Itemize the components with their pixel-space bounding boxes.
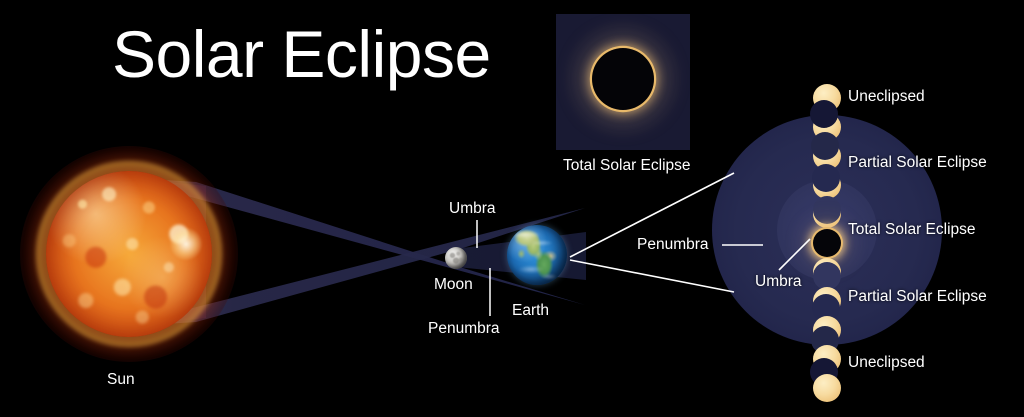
- umbra-label-right: Umbra: [755, 273, 802, 291]
- sun-label: Sun: [107, 371, 135, 389]
- earth-clouds: [507, 225, 567, 285]
- phase-disk-9: [813, 316, 841, 344]
- diagram-canvas: Solar Eclipse: [0, 0, 1024, 417]
- phase-label-uneclipsed-top: Uneclipsed: [848, 88, 925, 106]
- moon-label: Moon: [434, 276, 473, 294]
- phase-label-partial-top: Partial Solar Eclipse: [848, 154, 987, 172]
- umbra-label-left: Umbra: [449, 200, 496, 218]
- phase-disk-4: [813, 171, 841, 199]
- penumbra-label-left: Penumbra: [428, 320, 500, 338]
- phase-label-partial-bottom: Partial Solar Eclipse: [848, 288, 987, 306]
- sun: [20, 146, 238, 362]
- moon: [445, 247, 467, 269]
- phase-disk-5: [813, 200, 841, 228]
- moon-craters: [445, 247, 467, 269]
- phase-disk-8: [813, 287, 841, 315]
- total-eclipse-photo-caption: Total Solar Eclipse: [563, 157, 691, 175]
- corona-ring-icon: [592, 48, 654, 110]
- page-title: Solar Eclipse: [112, 21, 491, 87]
- phase-disk-total: [813, 229, 841, 257]
- total-eclipse-photo: [556, 14, 690, 150]
- phase-label-total: Total Solar Eclipse: [848, 221, 976, 239]
- penumbra-label-right: Penumbra: [637, 236, 709, 254]
- phase-disk-11: [813, 374, 841, 402]
- phase-disk-7: [813, 258, 841, 286]
- expansion-line-lower: [570, 260, 734, 292]
- phase-label-uneclipsed-bottom: Uneclipsed: [848, 354, 925, 372]
- earth: [507, 225, 567, 285]
- phase-disk-10: [813, 345, 841, 373]
- sun-flare-icon: [170, 228, 202, 260]
- earth-label: Earth: [512, 302, 549, 320]
